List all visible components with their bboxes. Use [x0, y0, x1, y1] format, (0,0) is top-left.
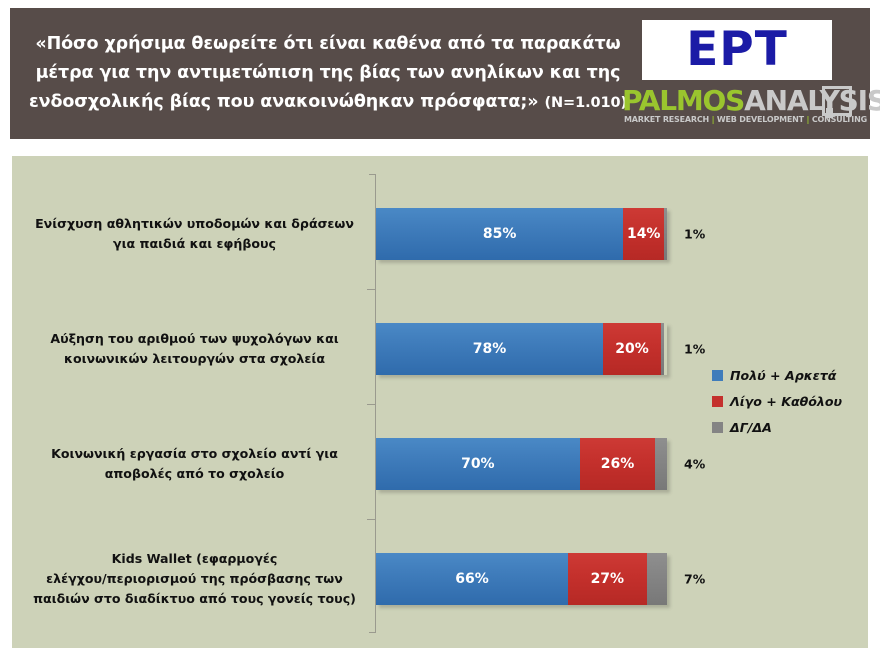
- stacked-bar[interactable]: 85% 14%: [376, 208, 667, 260]
- category-label-line: Kids Wallet (εφαρμογές: [22, 549, 367, 569]
- sample-size: (N=1.010): [544, 95, 627, 111]
- palmos-logo-word: PALMOS: [622, 84, 744, 117]
- stacked-bar[interactable]: 78% 20%: [376, 323, 667, 375]
- ert-logo: ΕΡΤ: [642, 20, 832, 80]
- legend-item-ligo-katholou[interactable]: Λίγο + Καθόλου: [712, 388, 862, 414]
- bar-segment-dg-da[interactable]: [647, 553, 667, 605]
- analysis-logo-word: ANALYSIS: [744, 84, 880, 117]
- legend-label: ΔΓ/ΔΑ: [730, 420, 772, 435]
- table-row: Ενίσχυση αθλητικών υποδομών και δράσεων …: [12, 204, 868, 264]
- category-label-line: Κοινωνική εργασία στο σχολείο αντί για: [22, 444, 367, 464]
- chart-panel: Ενίσχυση αθλητικών υποδομών και δράσεων …: [12, 156, 868, 648]
- bar-segment-ligo-katholou[interactable]: 14%: [623, 208, 664, 260]
- axis-tick-3: [367, 519, 376, 520]
- page-title-line-1: «Πόσο χρήσιμα θεωρείτε ότι είναι καθένα …: [28, 30, 628, 59]
- page-title-line-3-wrap: ενδοσχολικής βίας που ανακοινώθηκαν πρόσ…: [28, 88, 628, 118]
- axis-top-cap: [369, 174, 376, 175]
- category-label-line: για παιδιά και εφήβους: [22, 234, 367, 254]
- legend-item-polu-arketa[interactable]: Πολύ + Αρκετά: [712, 362, 862, 388]
- axis-tick-1: [367, 289, 376, 290]
- table-row: Κοινωνική εργασία στο σχολείο αντί για α…: [12, 434, 868, 494]
- legend-swatch-icon: [712, 422, 723, 433]
- bar-segment-polu-arketa[interactable]: 78%: [376, 323, 603, 375]
- bar-value-outside: 7%: [684, 572, 705, 587]
- legend-label: Λίγο + Καθόλου: [730, 394, 842, 409]
- bar-value-outside: 1%: [684, 227, 705, 242]
- stacked-bar[interactable]: 70% 26%: [376, 438, 667, 490]
- bar-segment-dg-da[interactable]: [661, 323, 664, 375]
- tagline-part-1: MARKET RESEARCH: [624, 115, 709, 124]
- legend-label: Πολύ + Αρκετά: [730, 368, 836, 383]
- bar-segment-dg-da[interactable]: [655, 438, 667, 490]
- stacked-bar[interactable]: 66% 27%: [376, 553, 667, 605]
- category-label-line: κοινωνικών λειτουργών στα σχολεία: [22, 349, 367, 369]
- axis-tick-2: [367, 404, 376, 405]
- category-label-line: αποβολές από το σχολείο: [22, 464, 367, 484]
- tagline-sep-2: |: [807, 115, 810, 124]
- header-band: «Πόσο χρήσιμα θεωρείτε ότι είναι καθένα …: [0, 0, 880, 146]
- legend-swatch-icon: [712, 370, 723, 381]
- page-title-line-3: ενδοσχολικής βίας που ανακοινώθηκαν πρόσ…: [29, 92, 538, 112]
- category-label: Kids Wallet (εφαρμογές ελέγχου/περιορισμ…: [22, 549, 367, 609]
- category-label: Κοινωνική εργασία στο σχολείο αντί για α…: [22, 444, 367, 484]
- tagline-part-2: WEB DEVELOPMENT: [717, 115, 804, 124]
- chart-legend: Πολύ + Αρκετά Λίγο + Καθόλου ΔΓ/ΔΑ: [712, 362, 862, 440]
- bar-segment-polu-arketa[interactable]: 66%: [376, 553, 568, 605]
- bar-segment-ligo-katholou[interactable]: 26%: [580, 438, 656, 490]
- page-title: «Πόσο χρήσιμα θεωρείτε ότι είναι καθένα …: [28, 30, 628, 118]
- logo-stack: ΕΡΤ PALMOSANALYSIS MARKET RESEARCH | WEB…: [622, 20, 852, 132]
- ert-logo-text: ΕΡΤ: [686, 26, 788, 74]
- bar-segment-polu-arketa[interactable]: 70%: [376, 438, 580, 490]
- category-label-line: παιδιών στο διαδίκτυο από τους γονείς το…: [22, 589, 367, 609]
- category-label: Αύξηση του αριθμού των ψυχολόγων και κοι…: [22, 329, 367, 369]
- legend-swatch-icon: [712, 396, 723, 407]
- bar-segment-polu-arketa[interactable]: 85%: [376, 208, 623, 260]
- category-label: Ενίσχυση αθλητικών υποδομών και δράσεων …: [22, 214, 367, 254]
- tagline-part-3: CONSULTING: [812, 115, 867, 124]
- header-panel: «Πόσο χρήσιμα θεωρείτε ότι είναι καθένα …: [10, 8, 870, 139]
- bar-segment-ligo-katholou[interactable]: 27%: [568, 553, 647, 605]
- palmos-square-icon: [822, 86, 852, 118]
- category-label-line: Ενίσχυση αθλητικών υποδομών και δράσεων: [22, 214, 367, 234]
- palmos-analysis-logo: PALMOSANALYSIS: [622, 84, 852, 114]
- bar-segment-dg-da[interactable]: [664, 208, 667, 260]
- legend-item-dg-da[interactable]: ΔΓ/ΔΑ: [712, 414, 862, 440]
- category-label-line: ελέγχου/περιορισμού της πρόσβασης των: [22, 569, 367, 589]
- tagline-sep-1: |: [712, 115, 715, 124]
- bar-value-outside: 4%: [684, 457, 705, 472]
- page-title-line-2: μέτρα για την αντιμετώπιση της βίας των …: [28, 59, 628, 88]
- agency-tagline: MARKET RESEARCH | WEB DEVELOPMENT | CONS…: [624, 115, 836, 124]
- axis-bottom-cap: [369, 632, 376, 633]
- table-row: Kids Wallet (εφαρμογές ελέγχου/περιορισμ…: [12, 549, 868, 609]
- category-label-line: Αύξηση του αριθμού των ψυχολόγων και: [22, 329, 367, 349]
- bar-segment-ligo-katholou[interactable]: 20%: [603, 323, 661, 375]
- bar-value-outside: 1%: [684, 342, 705, 357]
